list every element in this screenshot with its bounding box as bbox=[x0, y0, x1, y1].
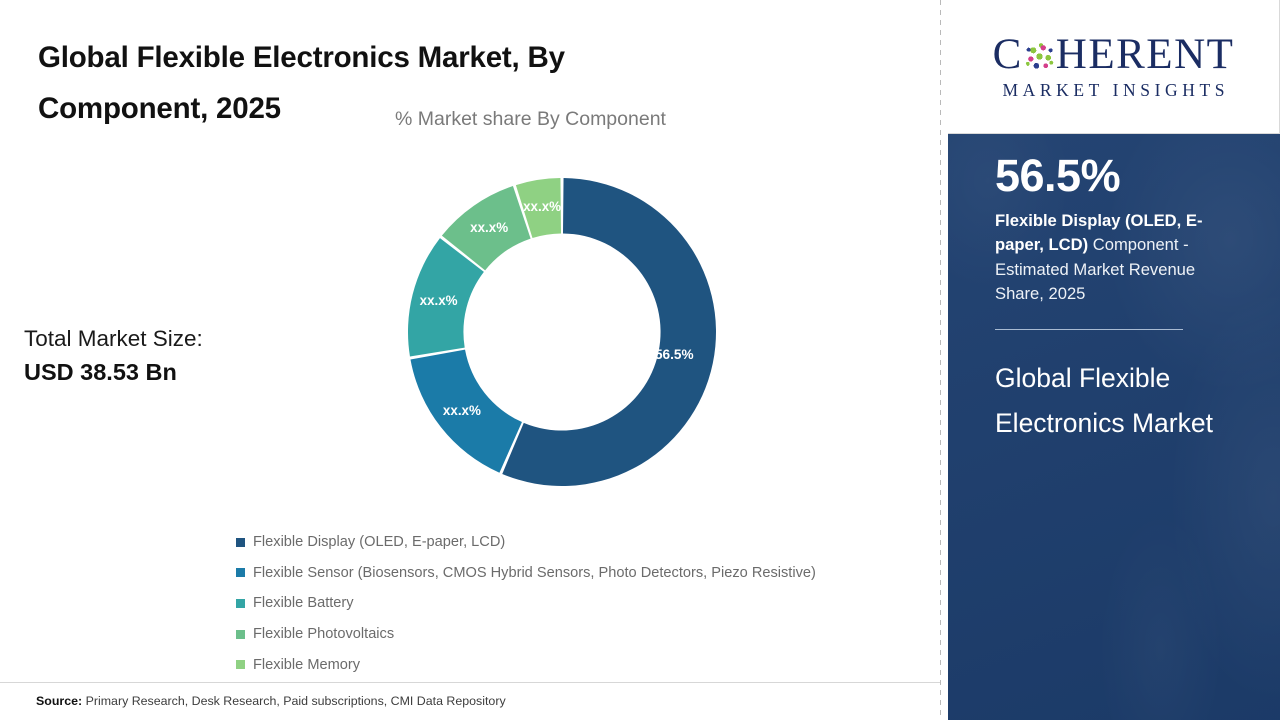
stats-panel: 56.5% Flexible Display (OLED, E-paper, L… bbox=[948, 134, 1280, 720]
legend-swatch bbox=[236, 538, 245, 547]
panel-content: 56.5% Flexible Display (OLED, E-paper, L… bbox=[948, 151, 1280, 447]
donut-svg: xx.x%xx.x%xx.x%xx.x% bbox=[408, 178, 716, 486]
source-note: Source: Primary Research, Desk Research,… bbox=[36, 694, 506, 708]
legend-item[interactable]: Flexible Battery bbox=[236, 588, 816, 619]
legend-item[interactable]: Flexible Memory bbox=[236, 649, 816, 680]
infographic-canvas: Global Flexible Electronics Market, By C… bbox=[0, 0, 1280, 720]
panel-divider bbox=[995, 329, 1183, 330]
legend-swatch bbox=[236, 568, 245, 577]
legend-label: Flexible Photovoltaics bbox=[253, 626, 394, 642]
logo-tagline: MARKET INSIGHTS bbox=[998, 80, 1229, 101]
source-text: Primary Research, Desk Research, Paid su… bbox=[86, 694, 506, 708]
total-market-label: Total Market Size: bbox=[24, 324, 203, 355]
stat-value: 56.5% bbox=[995, 151, 1280, 201]
donut-slices bbox=[408, 178, 716, 486]
legend-item[interactable]: Flexible Photovoltaics bbox=[236, 619, 816, 650]
legend-label: Flexible Battery bbox=[253, 595, 354, 611]
logo-wordmark: C HERENT bbox=[993, 33, 1235, 76]
legend-item[interactable]: Flexible Display (OLED, E-paper, LCD) bbox=[236, 527, 816, 558]
logo-letters-herent: HERENT bbox=[1056, 33, 1235, 76]
total-market-value: USD 38.53 Bn bbox=[24, 355, 203, 390]
legend-label: Flexible Display (OLED, E-paper, LCD) bbox=[253, 534, 505, 550]
footer-divider bbox=[0, 682, 940, 683]
donut-slice-label: xx.x% bbox=[420, 293, 458, 308]
total-market-size: Total Market Size: USD 38.53 Bn bbox=[24, 324, 203, 390]
donut-chart: xx.x%xx.x%xx.x%xx.x% bbox=[408, 178, 716, 486]
brand-pane: C HERENT MARKET INSIGHTS 56.5% Flexible … bbox=[948, 0, 1280, 720]
donut-slice-label: xx.x% bbox=[523, 199, 561, 214]
donut-label-primary: 56.5% bbox=[655, 347, 694, 362]
donut-slice-label: xx.x% bbox=[443, 403, 481, 418]
legend-label: Flexible Memory bbox=[253, 657, 360, 673]
stat-description: Flexible Display (OLED, E-paper, LCD) Co… bbox=[995, 209, 1233, 307]
chart-subtitle: % Market share By Component bbox=[395, 108, 666, 131]
legend-swatch bbox=[236, 630, 245, 639]
source-label: Source: bbox=[36, 694, 82, 708]
logo-letter-c: C bbox=[993, 33, 1023, 76]
chart-pane: Global Flexible Electronics Market, By C… bbox=[0, 0, 940, 720]
globe-icon bbox=[1024, 41, 1055, 72]
legend-label: Flexible Sensor (Biosensors, CMOS Hybrid… bbox=[253, 565, 816, 581]
donut-slice-label: xx.x% bbox=[470, 220, 508, 235]
legend-swatch bbox=[236, 660, 245, 669]
vertical-dashed-divider bbox=[940, 0, 941, 720]
logo-box: C HERENT MARKET INSIGHTS bbox=[948, 0, 1280, 134]
chart-legend: Flexible Display (OLED, E-paper, LCD)Fle… bbox=[236, 527, 816, 680]
market-name: Global Flexible Electronics Market bbox=[995, 356, 1227, 447]
legend-item[interactable]: Flexible Sensor (Biosensors, CMOS Hybrid… bbox=[236, 558, 816, 589]
legend-swatch bbox=[236, 599, 245, 608]
